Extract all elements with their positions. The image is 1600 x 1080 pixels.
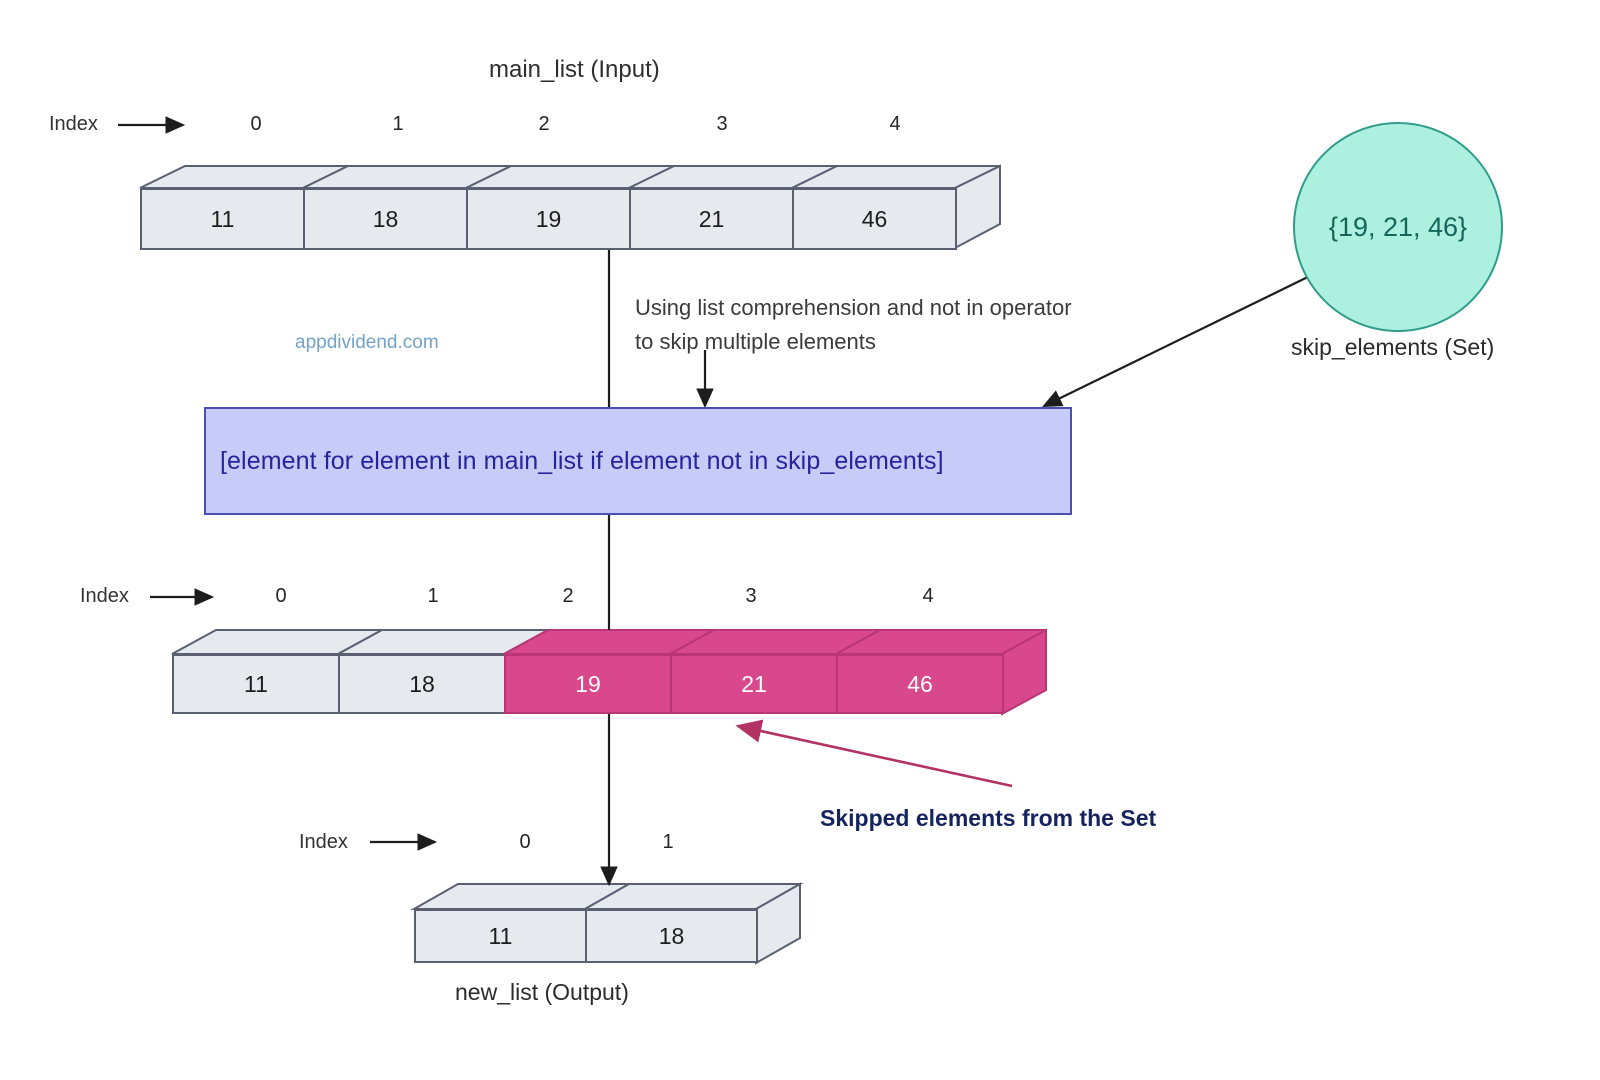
marked-index-2: 2 [545,585,591,608]
marked-index-1: 1 [410,585,456,608]
diagram-canvas: main_list (Input) Index 0 1 2 3 4 11 18 … [0,0,1600,1080]
input-index-label: Index [49,113,98,136]
input-array-title: main_list (Input) [489,56,660,84]
marked-cell-3: 21 [670,654,838,714]
skipped-arrow [738,726,1012,786]
skip-elements-set-node: {19, 21, 46} [1293,122,1503,332]
operation-note-line1: Using list comprehension and not in oper… [635,291,1072,325]
list-comprehension-box: [element for element in main_list if ele… [204,407,1072,515]
marked-cell-4: 46 [836,654,1004,714]
watermark: appdividend.com [295,332,439,354]
marked-index-4: 4 [905,585,951,608]
input-cell-1: 18 [303,188,468,250]
input-cell-0: 11 [140,188,305,250]
marked-index-0: 0 [258,585,304,608]
list-comprehension-text: [element for element in main_list if ele… [220,447,944,476]
input-index-1: 1 [375,113,421,136]
marked-index-3: 3 [728,585,774,608]
skip-elements-set-value: {19, 21, 46} [1329,212,1467,243]
marked-cell-1: 18 [338,654,506,714]
marked-cell-2: 19 [504,654,672,714]
input-index-0: 0 [233,113,279,136]
output-index-0: 0 [502,831,548,854]
input-index-2: 2 [521,113,567,136]
output-index-label: Index [299,831,348,854]
output-index-1: 1 [645,831,691,854]
input-index-4: 4 [872,113,918,136]
output-cell-0: 11 [414,909,587,963]
output-array-caption: new_list (Output) [455,979,629,1006]
input-cell-2: 19 [466,188,631,250]
set-to-code-arrow [1044,272,1318,406]
output-cell-1: 18 [585,909,758,963]
skipped-elements-annotation: Skipped elements from the Set [820,805,1156,832]
input-index-3: 3 [699,113,745,136]
marked-cell-0: 11 [172,654,340,714]
input-cell-3: 21 [629,188,794,250]
marked-index-label: Index [80,585,129,608]
input-cell-4: 46 [792,188,957,250]
operation-note-line2: to skip multiple elements [635,325,876,359]
skip-elements-set-caption: skip_elements (Set) [1291,334,1494,361]
